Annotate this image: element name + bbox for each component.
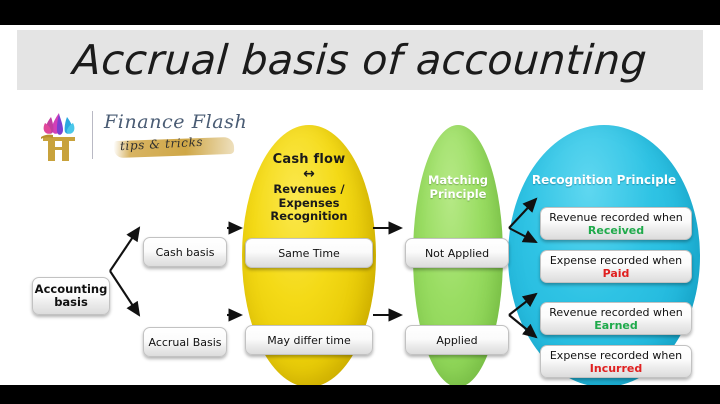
letterbox-bottom [0,385,720,404]
node-applied[interactable]: Applied [405,325,509,355]
node-accounting-basis[interactable]: Accounting basis [32,277,110,315]
logo-divider [92,111,93,159]
node-expense-paid[interactable]: Expense recorded when Paid [540,250,692,283]
node-may-differ-time[interactable]: May differ time [245,325,373,355]
node-accrual-basis[interactable]: Accrual Basis [143,327,227,357]
may-differ-time-label: May differ time [267,334,351,347]
node-revenue-received[interactable]: Revenue recorded when Received [540,207,692,240]
brand-logo: Finance Flash tips & tricks [32,105,242,167]
logo-brand-name: Finance Flash [104,111,247,133]
revenue-received-label: Revenue recorded when [549,211,683,224]
cash-basis-label: Cash basis [156,246,215,259]
finance-flash-logo-icon [35,109,83,163]
node-expense-incurred[interactable]: Expense recorded when Incurred [540,345,692,378]
expense-paid-label: Expense recorded when [550,254,682,267]
same-time-label: Same Time [278,247,340,260]
revenue-earned-value: Earned [594,319,638,332]
title-banner: Accrual basis of accounting [17,30,703,90]
node-same-time[interactable]: Same Time [245,238,373,268]
not-applied-label: Not Applied [425,247,489,260]
accounting-basis-line2: basis [54,296,88,309]
node-not-applied[interactable]: Not Applied [405,238,509,268]
expense-incurred-label: Expense recorded when [550,349,682,362]
expense-incurred-value: Incurred [590,362,642,375]
letterbox-top [0,0,720,25]
slide-content: Accrual basis of accounting Finance Flas [0,25,720,385]
node-revenue-earned[interactable]: Revenue recorded when Earned [540,302,692,335]
accrual-basis-label: Accrual Basis [148,336,221,349]
node-cash-basis[interactable]: Cash basis [143,237,227,267]
applied-label: Applied [436,334,477,347]
revenue-earned-label: Revenue recorded when [549,306,683,319]
page-title: Accrual basis of accounting [71,36,648,84]
slide-canvas: Accrual basis of accounting Finance Flas [0,0,720,404]
expense-paid-value: Paid [603,267,630,280]
revenue-received-value: Received [588,224,644,237]
